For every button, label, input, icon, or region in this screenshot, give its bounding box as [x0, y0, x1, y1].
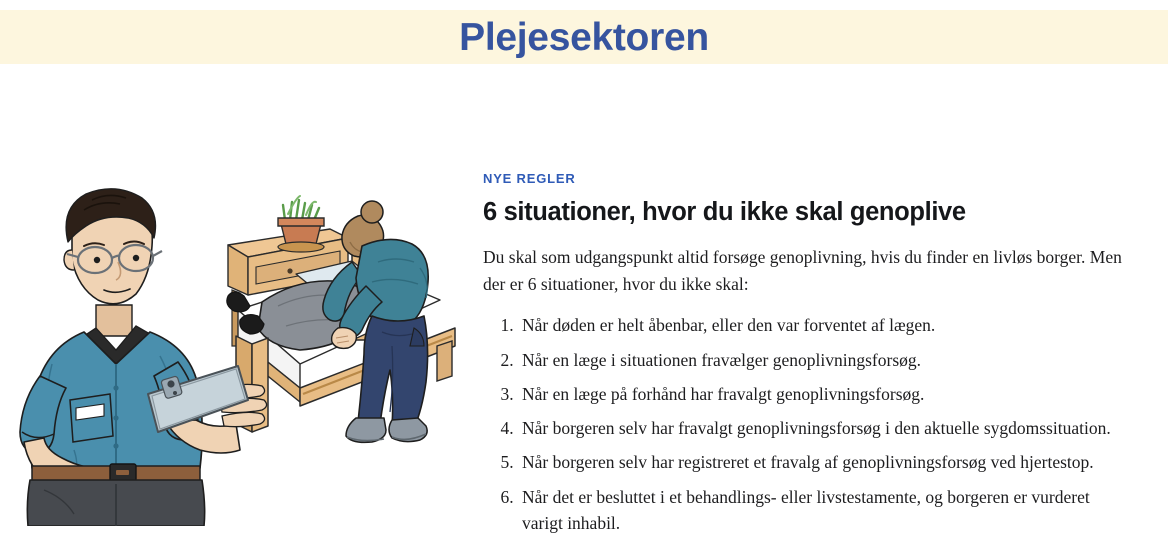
article-kicker: NYE REGLER — [483, 172, 1128, 186]
article-headline: 6 situationer, hvor du ikke skal genopli… — [483, 197, 1128, 228]
article-content: NYE REGLER 6 situationer, hvor du ikke s… — [483, 172, 1128, 536]
list-item: Når det er besluttet i et behandlings- e… — [518, 484, 1128, 536]
hair-bun — [361, 201, 383, 223]
rules-list: Når døden er helt åbenbar, eller den var… — [483, 312, 1128, 536]
list-item: Når en læge i situationen fravælger geno… — [518, 347, 1128, 373]
list-item: Når borgeren selv har registreret et fra… — [518, 449, 1128, 475]
page-banner: Plejesektoren — [0, 10, 1168, 64]
list-item: Når en læge på forhånd har fravalgt geno… — [518, 381, 1128, 407]
article-lede: Du skal som udgangspunkt altid forsøge g… — [483, 244, 1128, 299]
page-title: Plejesektoren — [459, 18, 709, 57]
care-scene-illustration — [0, 150, 470, 526]
caregiver-hand — [332, 328, 357, 349]
list-item: Når borgeren selv har fravalgt genoplivn… — [518, 415, 1128, 441]
list-item: Når døden er helt åbenbar, eller den var… — [518, 312, 1128, 338]
potted-plant-icon — [278, 196, 324, 252]
caregiver-tablet-figure — [20, 189, 267, 526]
